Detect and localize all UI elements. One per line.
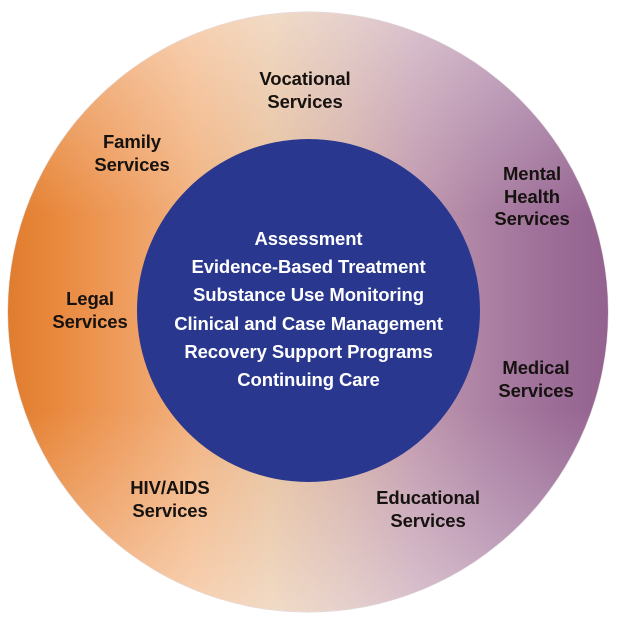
ring-label-educational-services: Educational Services [333, 487, 523, 532]
core-service-item-assessment: Assessment [254, 225, 362, 253]
core-service-item-recovery-support-programs: Recovery Support Programs [184, 338, 432, 366]
core-service-item-evidence-based-treatment: Evidence-Based Treatment [191, 253, 425, 281]
inner-core-services-circle: Assessment Evidence-Based Treatment Subs… [137, 139, 480, 482]
core-service-item-continuing-care: Continuing Care [237, 366, 379, 394]
ring-label-hiv-aids-services: HIV/AIDS Services [82, 477, 258, 522]
core-service-item-substance-use-monitoring: Substance Use Monitoring [193, 281, 424, 309]
ring-label-family-services: Family Services [48, 131, 216, 176]
ring-label-vocational-services: Vocational Services [205, 68, 405, 113]
core-service-item-clinical-and-case-management: Clinical and Case Management [174, 310, 443, 338]
ring-label-mental-health-services: Mental Health Services [456, 163, 608, 231]
ring-label-legal-services: Legal Services [16, 288, 164, 333]
diagram-canvas: Assessment Evidence-Based Treatment Subs… [0, 0, 623, 629]
ring-label-medical-services: Medical Services [460, 357, 612, 402]
